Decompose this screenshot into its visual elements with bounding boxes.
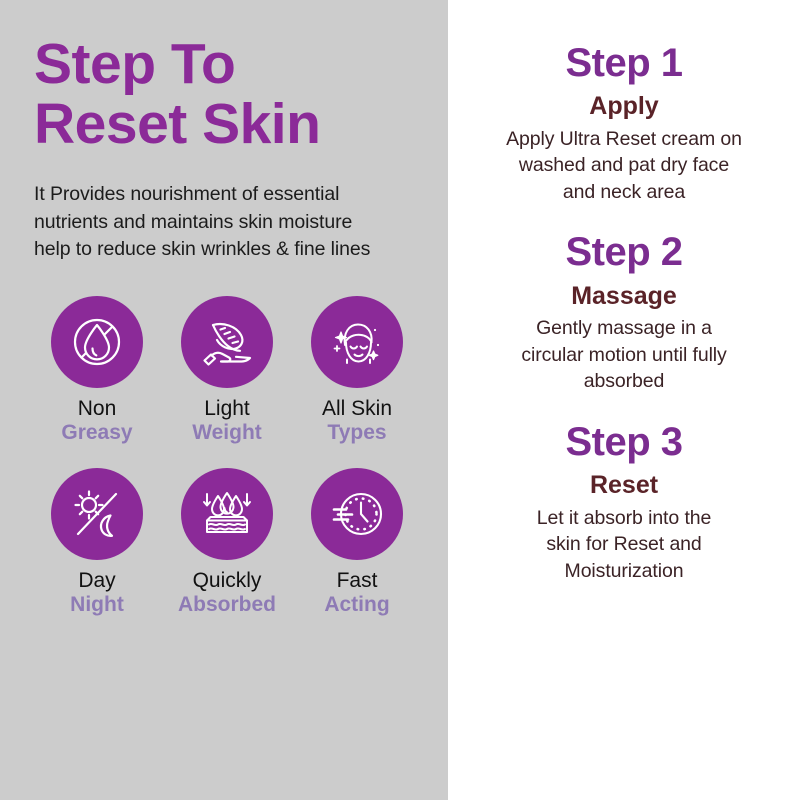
step-subtitle: Reset	[464, 472, 784, 500]
step-title: Step 3	[464, 421, 784, 463]
step-block-3: Step 3 Reset Let it absorb into the skin…	[464, 421, 784, 584]
step-body: Gently massage in a circular motion unti…	[464, 315, 784, 395]
feature-icon-badge	[181, 468, 273, 560]
feature-label: Fast Acting	[324, 569, 389, 618]
feature-icon-badge	[51, 468, 143, 560]
feature-label-line1: Fast	[324, 569, 389, 593]
feature-icon-badge	[51, 296, 143, 388]
step-subtitle: Apply	[464, 93, 784, 121]
step-block-1: Step 1 Apply Apply Ultra Reset cream on …	[464, 42, 784, 205]
feature-label: Day Night	[70, 569, 124, 618]
feature-label-line2: Greasy	[61, 421, 132, 445]
feature-label-line2: Night	[70, 593, 124, 617]
step-block-2: Step 2 Massage Gently massage in a circu…	[464, 231, 784, 394]
feature-label: Light Weight	[192, 397, 262, 446]
step-body: Apply Ultra Reset cream on washed and pa…	[464, 126, 784, 206]
feature-label-line1: Quickly	[178, 569, 276, 593]
feature-item-light-weight: Light Weight	[164, 296, 290, 446]
step-title: Step 1	[464, 42, 784, 84]
feature-label: Non Greasy	[61, 397, 132, 446]
step-body: Let it absorb into the skin for Reset an…	[464, 505, 784, 585]
feature-icon-badge	[181, 296, 273, 388]
feature-label-line1: Light	[192, 397, 262, 421]
feature-item-fast-acting: Fast Acting	[294, 468, 420, 618]
feature-item-all-skin-types: All Skin Types	[294, 296, 420, 446]
step-subtitle: Massage	[464, 283, 784, 311]
feature-label: All Skin Types	[322, 397, 392, 446]
infographic-root: Step To Reset Skin It Provides nourishme…	[0, 0, 800, 800]
right-panel: Step 1 Apply Apply Ultra Reset cream on …	[448, 0, 800, 800]
left-panel: Step To Reset Skin It Provides nourishme…	[0, 0, 448, 800]
page-title: Step To Reset Skin	[34, 34, 420, 155]
feature-label-line1: Non	[61, 397, 132, 421]
feature-label-line2: Acting	[324, 593, 389, 617]
feature-label-line1: All Skin	[322, 397, 392, 421]
sun-moon-icon	[66, 483, 128, 545]
glowing-face-icon	[326, 311, 388, 373]
feature-label-line2: Types	[322, 421, 392, 445]
step-title: Step 2	[464, 231, 784, 273]
feature-item-quickly-absorbed: Quickly Absorbed	[164, 468, 290, 618]
feature-item-day-night: Day Night	[34, 468, 160, 618]
feature-label-line2: Absorbed	[178, 593, 276, 617]
feature-icon-badge	[311, 468, 403, 560]
feature-item-non-greasy: Non Greasy	[34, 296, 160, 446]
feature-grid: Non Greasy	[34, 296, 420, 617]
feature-label: Quickly Absorbed	[178, 569, 276, 618]
feature-label-line2: Weight	[192, 421, 262, 445]
feature-icon-badge	[311, 296, 403, 388]
feature-label-line1: Day	[70, 569, 124, 593]
droplets-absorbing-icon	[196, 483, 258, 545]
no-grease-droplet-icon	[67, 312, 127, 372]
intro-description: It Provides nourishment of essential nut…	[34, 181, 420, 264]
feather-on-hand-icon	[196, 311, 258, 373]
clock-speed-icon	[326, 483, 388, 545]
